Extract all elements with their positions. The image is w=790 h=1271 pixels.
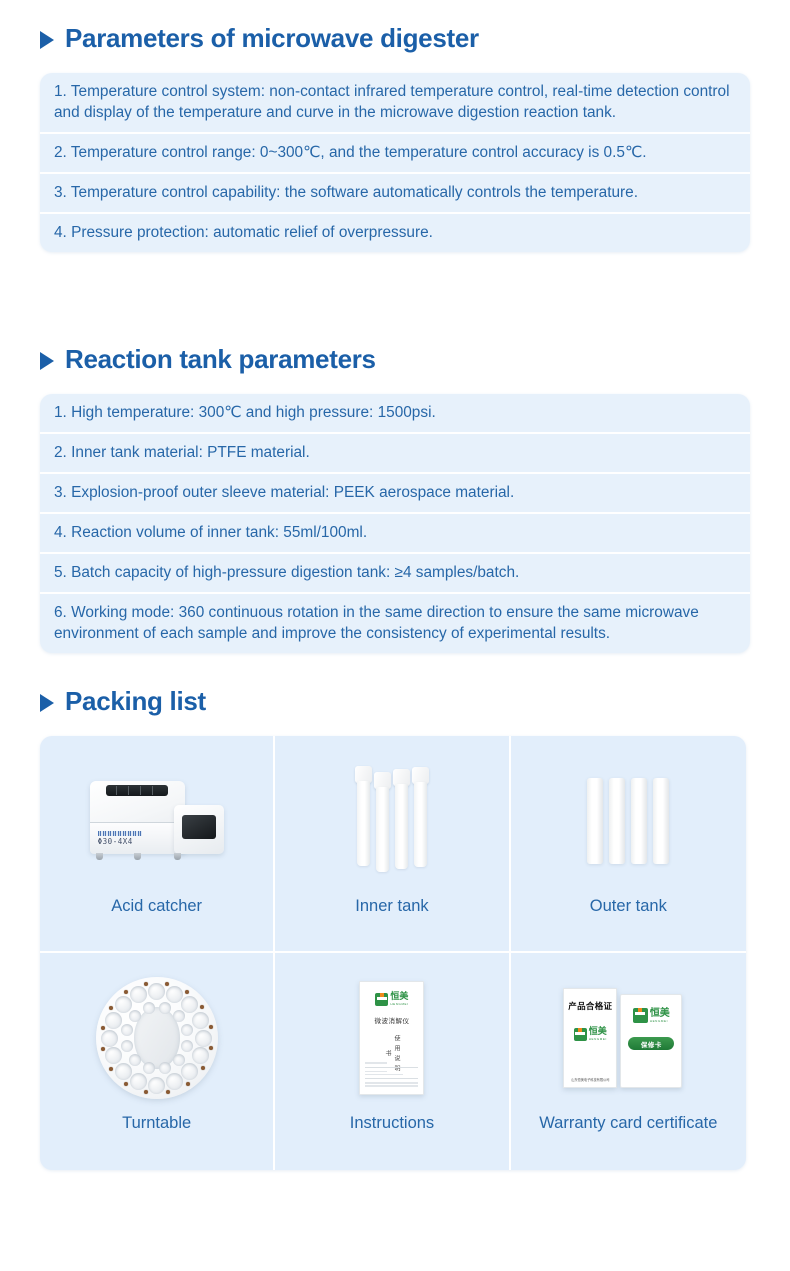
section-reaction-tank: Reaction tank parameters 1. High tempera… xyxy=(40,344,750,653)
packing-item-acid-catcher: Φ30-4X4 Acid catcher xyxy=(40,736,275,953)
turntable-hole xyxy=(129,1010,141,1022)
logo-mark-icon xyxy=(375,993,388,1006)
turntable-hole xyxy=(115,1063,132,1080)
section-packing-list: Packing list xyxy=(40,686,746,1170)
spec-item: 6. Working mode: 360 continuous rotation… xyxy=(40,594,750,653)
brand-name-cn: 恒美 xyxy=(650,1009,670,1019)
turntable-hole xyxy=(159,1002,171,1014)
warranty-card: 恒美 HENGMEI 保修卡 xyxy=(620,994,682,1088)
packing-item-caption: Outer tank xyxy=(584,896,673,917)
machine-illustration: Φ30-4X4 xyxy=(82,769,232,874)
machine-display-screen xyxy=(182,815,216,839)
turntable-hole xyxy=(130,986,147,1003)
section-heading: Parameters of microwave digester xyxy=(40,23,750,54)
tube-group xyxy=(357,766,427,876)
spec-item: 1. High temperature: 300℃ and high press… xyxy=(40,394,750,434)
turntable-hole xyxy=(195,1030,212,1047)
spec-item: 5. Batch capacity of high-pressure diges… xyxy=(40,554,750,594)
turntable-hole xyxy=(105,1012,122,1029)
turntable-hole xyxy=(143,1062,155,1074)
packing-item-caption: Turntable xyxy=(116,1113,197,1134)
turntable-screw xyxy=(109,1006,113,1010)
warranty-cards-image: 产品合格证 恒美 HENGMEI 山东恒美电子科技有限公司 xyxy=(511,963,746,1113)
turntable-screw xyxy=(186,1082,190,1086)
turntable-screw xyxy=(144,1090,148,1094)
turntable-screw xyxy=(144,982,148,986)
packing-item-warranty-card: 产品合格证 恒美 HENGMEI 山东恒美电子科技有限公司 xyxy=(511,953,746,1170)
turntable-screw xyxy=(109,1067,113,1071)
turntable-screw xyxy=(209,1046,213,1050)
turntable-hole xyxy=(181,1040,193,1052)
packing-item-turntable: Turntable xyxy=(40,953,275,1170)
turntable-hole xyxy=(101,1030,118,1047)
turntable-hole xyxy=(181,1024,193,1036)
section-heading-text: Reaction tank parameters xyxy=(65,344,376,375)
turntable-hole xyxy=(148,983,165,1000)
section-heading-text: Parameters of microwave digester xyxy=(65,23,479,54)
triangle-bullet-icon xyxy=(40,31,54,49)
turntable-screw xyxy=(101,1047,105,1051)
machine-model-code: Φ30-4X4 xyxy=(98,837,144,846)
tube xyxy=(395,769,408,869)
packing-item-inner-tank: Inner tank xyxy=(275,736,510,953)
turntable-image xyxy=(40,963,273,1113)
acid-catcher-image: Φ30-4X4 xyxy=(40,746,273,896)
cylinder xyxy=(609,778,625,864)
turntable-screw xyxy=(185,990,189,994)
packing-item-caption: Instructions xyxy=(344,1113,440,1134)
brand-name-en: HENGMEI xyxy=(390,1002,408,1006)
brand-name-cn: 恒美 xyxy=(390,993,408,1002)
barcode-icon xyxy=(98,831,142,836)
spec-panel: 1. High temperature: 300℃ and high press… xyxy=(40,394,750,653)
turntable-hole xyxy=(173,1010,185,1022)
turntable-screw xyxy=(200,1005,204,1009)
triangle-bullet-icon xyxy=(40,352,54,370)
turntable-screw xyxy=(124,1082,128,1086)
packing-item-instructions: 恒美 HENGMEI 微波消解仪 使用说明书 xyxy=(275,953,510,1170)
inner-tank-image xyxy=(275,746,508,896)
turntable-screw xyxy=(209,1025,213,1029)
certificate-card: 产品合格证 恒美 HENGMEI 山东恒美电子科技有限公司 xyxy=(563,988,617,1088)
brand-name-cn: 恒美 xyxy=(589,1028,607,1037)
company-name: 山东恒美电子科技有限公司 xyxy=(571,1077,609,1082)
cylinder xyxy=(587,778,603,864)
machine-seam xyxy=(90,822,185,824)
turntable-screw xyxy=(101,1026,105,1030)
turntable-screw xyxy=(165,982,169,986)
tube xyxy=(357,766,370,866)
brand-name-en: HENGMEI xyxy=(589,1037,607,1041)
warranty-banner: 保修卡 xyxy=(628,1037,674,1050)
machine-foot xyxy=(96,853,103,860)
machine-vent xyxy=(106,785,168,796)
turntable-hole xyxy=(148,1077,165,1094)
section-microwave-digester: Parameters of microwave digester 1. Temp… xyxy=(40,23,750,252)
turntable-hole xyxy=(159,1062,171,1074)
warranty-banner-text: 保修卡 xyxy=(641,1039,662,1049)
turntable-screw xyxy=(124,990,128,994)
turntable-hole xyxy=(105,1047,122,1064)
outer-tank-image xyxy=(511,746,746,896)
instructions-image: 恒美 HENGMEI 微波消解仪 使用说明书 xyxy=(275,963,508,1113)
turntable-screw xyxy=(201,1066,205,1070)
spec-item: 4. Pressure protection: automatic relief… xyxy=(40,214,750,252)
packing-item-caption: Warranty card certificate xyxy=(533,1113,723,1134)
turntable-hole xyxy=(143,1002,155,1014)
turntable-hole xyxy=(166,1073,183,1090)
machine-label: Φ30-4X4 xyxy=(98,831,144,846)
logo-mark-icon xyxy=(574,1028,587,1041)
booklet-illustration: 恒美 HENGMEI 微波消解仪 使用说明书 xyxy=(359,981,424,1095)
triangle-bullet-icon xyxy=(40,694,54,712)
logo-mark-icon xyxy=(633,1008,648,1023)
turntable-hole xyxy=(115,996,132,1013)
spec-panel: 1. Temperature control system: non-conta… xyxy=(40,73,750,252)
cylinder xyxy=(631,778,647,864)
machine-foot xyxy=(134,853,141,860)
packing-item-caption: Acid catcher xyxy=(105,896,208,917)
product-spec-page: Parameters of microwave digester 1. Temp… xyxy=(0,0,790,1271)
packing-item-outer-tank: Outer tank xyxy=(511,736,746,953)
spec-item: 1. Temperature control system: non-conta… xyxy=(40,73,750,134)
turntable-hole xyxy=(192,1047,209,1064)
cylinder xyxy=(653,778,669,864)
brand-name-en: HENGMEI xyxy=(650,1019,668,1023)
turntable-illustration xyxy=(96,977,218,1099)
turntable-hole xyxy=(192,1012,209,1029)
turntable-hole xyxy=(181,996,198,1013)
spec-item: 2. Inner tank material: PTFE material. xyxy=(40,434,750,474)
turntable-screw xyxy=(166,1090,170,1094)
cylinder-group xyxy=(587,766,669,876)
tube xyxy=(376,772,389,872)
section-heading-text: Packing list xyxy=(65,686,206,717)
section-heading: Packing list xyxy=(40,686,746,717)
machine-foot xyxy=(174,853,181,860)
turntable-hole xyxy=(121,1040,133,1052)
tube xyxy=(414,767,427,867)
turntable-hole xyxy=(130,1073,147,1090)
booklet-title: 微波消解仪 xyxy=(374,1015,409,1025)
booklet-footer xyxy=(365,1061,418,1089)
spec-item: 3. Temperature control capability: the s… xyxy=(40,174,750,214)
turntable-hole xyxy=(129,1054,141,1066)
packing-item-caption: Inner tank xyxy=(349,896,434,917)
section-heading: Reaction tank parameters xyxy=(40,344,750,375)
turntable-hole xyxy=(121,1024,133,1036)
hengmei-logo-icon: 恒美 HENGMEI xyxy=(574,1028,607,1041)
cards-illustration: 产品合格证 恒美 HENGMEI 山东恒美电子科技有限公司 xyxy=(553,982,703,1094)
spec-item: 4. Reaction volume of inner tank: 55ml/1… xyxy=(40,514,750,554)
hengmei-logo-icon: 恒美 HENGMEI xyxy=(633,1008,670,1023)
hengmei-logo-icon: 恒美 HENGMEI xyxy=(375,993,408,1006)
packing-grid: Φ30-4X4 Acid catcher xyxy=(40,736,746,1170)
turntable-hole xyxy=(173,1054,185,1066)
spec-item: 3. Explosion-proof outer sleeve material… xyxy=(40,474,750,514)
certificate-title: 产品合格证 xyxy=(568,1000,612,1012)
turntable-hole xyxy=(181,1063,198,1080)
spec-item: 2. Temperature control range: 0~300℃, an… xyxy=(40,134,750,174)
